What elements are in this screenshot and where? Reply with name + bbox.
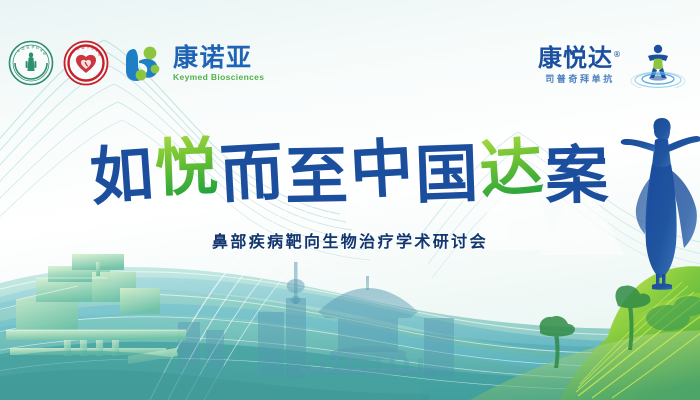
headline-char-8: 案 xyxy=(545,143,611,207)
event-subtitle: 鼻部疾病靶向生物治疗学术研讨会 xyxy=(0,228,700,252)
svg-text:学: 学 xyxy=(87,44,90,49)
svg-text:学: 学 xyxy=(32,44,35,49)
kangyueda-wordmark: 康悦达® 司普奇拜单抗 xyxy=(538,46,622,85)
partner-logos-left: 中国 医学 科学 院 中华 医学 会学 会 xyxy=(8,40,264,86)
svg-text:会: 会 xyxy=(91,45,94,50)
institution-seal-red-icon: 中华 医学 会学 会 xyxy=(63,40,109,86)
kangyueda-name-text: 康悦达 xyxy=(538,44,613,72)
svg-text:华: 华 xyxy=(77,46,80,51)
keymed-figure-icon xyxy=(122,41,166,85)
person-ripple-icon xyxy=(630,42,686,88)
svg-text:医: 医 xyxy=(27,45,30,49)
headline-phrase-2: 中国达案 xyxy=(350,140,610,203)
keymed-name-en: Keymed Biosciences xyxy=(173,73,264,82)
svg-text:中: 中 xyxy=(72,48,75,53)
registered-mark-icon: ® xyxy=(613,50,622,59)
headline-char-1: 如 xyxy=(88,142,157,209)
headline-char-2: 悦 xyxy=(154,135,221,200)
headline-char-5: 中 xyxy=(348,136,416,202)
svg-text:科: 科 xyxy=(36,45,39,50)
headline-phrase-1: 如悦而至 xyxy=(90,140,350,203)
svg-text:中: 中 xyxy=(17,48,20,53)
svg-text:会: 会 xyxy=(98,51,101,56)
keymed-name-cn: 康诺亚 xyxy=(173,45,264,70)
event-banner: 中国 医学 科学 院 中华 医学 会学 会 xyxy=(0,0,700,400)
svg-text:国: 国 xyxy=(22,46,25,51)
headline-char-7: 达 xyxy=(478,135,547,202)
kangyueda-logo: 康悦达® 司普奇拜单抗 xyxy=(538,42,686,88)
keymed-wordmark: 康诺亚 Keymed Biosciences xyxy=(173,45,264,82)
headline-char-3: 而 xyxy=(219,140,287,206)
svg-text:医: 医 xyxy=(82,45,85,49)
kangyueda-generic-name: 司普奇拜单抗 xyxy=(545,76,615,85)
institution-seal-green-icon: 中国 医学 科学 院 xyxy=(8,40,54,86)
keymed-logo: 康诺亚 Keymed Biosciences xyxy=(122,41,264,85)
headline-char-4: 至 xyxy=(285,144,351,208)
headline: 如悦而至 中国达案 xyxy=(0,140,700,203)
kangyueda-name-cn: 康悦达® xyxy=(538,46,622,70)
headline-char-6: 国 xyxy=(414,142,481,207)
svg-text:院: 院 xyxy=(43,51,46,56)
